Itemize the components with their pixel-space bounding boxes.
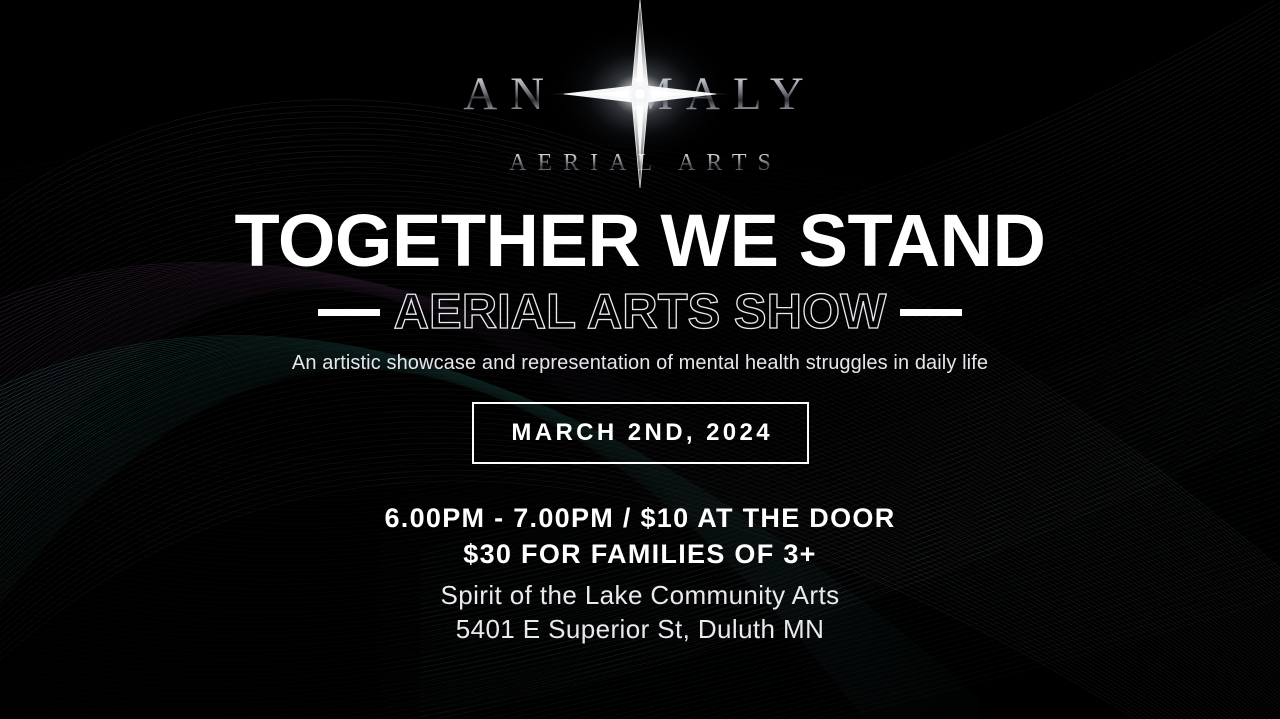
logo-subtitle: AERIAL ARTS: [0, 150, 1280, 177]
logo-name-right: MALY: [631, 68, 817, 120]
subhead-label: AERIAL ARTS SHOW: [394, 288, 887, 337]
pricing-line: $30 FOR FAMILIES OF 3+: [0, 536, 1280, 572]
brand-logo: ANMALY: [0, 58, 1280, 177]
poster-subhead: AERIAL ARTS SHOW: [0, 288, 1280, 337]
event-date-box: MARCH 2ND, 2024: [472, 402, 809, 464]
pricing-block: 6.00PM - 7.00PM / $10 AT THE DOOR $30 FO…: [0, 500, 1280, 572]
event-date-label: MARCH 2ND, 2024: [508, 419, 773, 447]
event-poster: ANMALY: [0, 0, 1280, 719]
poster-headline: TOGETHER WE STAND: [0, 204, 1280, 278]
pricing-line: 6.00PM - 7.00PM / $10 AT THE DOOR: [0, 500, 1280, 536]
subhead-dash-right: [900, 309, 962, 316]
poster-tagline: An artistic showcase and representation …: [0, 352, 1280, 375]
venue-address: 5401 E Superior St, Duluth MN: [0, 612, 1280, 646]
venue-name: Spirit of the Lake Community Arts: [0, 578, 1280, 612]
logo-wordmark: ANMALY: [0, 58, 1280, 130]
subhead-dash-left: [318, 309, 380, 316]
logo-name-left: AN: [463, 68, 557, 120]
venue-block: Spirit of the Lake Community Arts 5401 E…: [0, 578, 1280, 646]
